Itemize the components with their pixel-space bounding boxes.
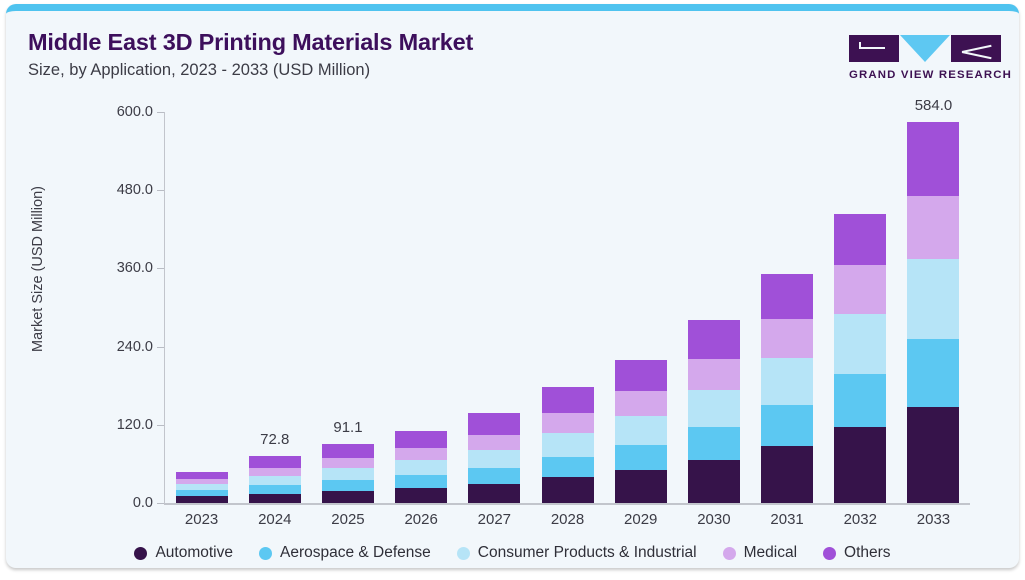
bar-segment[interactable] bbox=[249, 476, 301, 485]
bar-segment[interactable] bbox=[176, 496, 228, 503]
legend-label: Consumer Products & Industrial bbox=[478, 544, 697, 562]
legend-item-consumer-products-industrial[interactable]: Consumer Products & Industrial bbox=[457, 544, 697, 562]
y-axis-tick-mark bbox=[157, 112, 164, 113]
bar-segment[interactable] bbox=[468, 484, 520, 503]
bar-column[interactable] bbox=[531, 112, 604, 503]
legend-label: Others bbox=[844, 544, 891, 562]
bar-value-label: 72.8 bbox=[260, 431, 289, 448]
x-axis-tick-label: 2025 bbox=[311, 511, 384, 528]
bar-segment[interactable] bbox=[615, 416, 667, 445]
x-axis-tick-label: 2024 bbox=[238, 511, 311, 528]
legend-item-aerospace-defense[interactable]: Aerospace & Defense bbox=[259, 544, 431, 562]
bar-segment[interactable] bbox=[542, 413, 594, 433]
bar-segment[interactable] bbox=[176, 472, 228, 479]
bar-segment[interactable] bbox=[395, 448, 447, 460]
y-axis-tick-mark bbox=[157, 190, 164, 191]
bar-segment[interactable] bbox=[468, 468, 520, 484]
bar-column[interactable]: 72.8 bbox=[238, 112, 311, 503]
bar-column[interactable] bbox=[604, 112, 677, 503]
bar-value-label: 91.1 bbox=[333, 419, 362, 436]
legend-swatch-icon bbox=[259, 547, 272, 560]
stacked-bar[interactable] bbox=[395, 431, 447, 503]
bar-segment[interactable] bbox=[761, 358, 813, 405]
bar-segment[interactable] bbox=[322, 468, 374, 480]
legend-label: Automotive bbox=[155, 544, 233, 562]
bar-value-label: 584.0 bbox=[915, 97, 953, 114]
x-axis-tick-label: 2026 bbox=[385, 511, 458, 528]
bar-segment[interactable] bbox=[249, 485, 301, 493]
bar-segment[interactable] bbox=[761, 405, 813, 447]
bar-column[interactable] bbox=[385, 112, 458, 503]
y-axis-tick-label: 120.0 bbox=[83, 417, 153, 433]
bar-segment[interactable] bbox=[688, 460, 740, 503]
legend-swatch-icon bbox=[134, 547, 147, 560]
bar-segment[interactable] bbox=[761, 446, 813, 503]
x-axis-tick-label: 2033 bbox=[897, 511, 970, 528]
x-axis-tick-label: 2027 bbox=[458, 511, 531, 528]
bar-segment[interactable] bbox=[688, 359, 740, 390]
y-axis-tick-label: 0.0 bbox=[83, 495, 153, 511]
bar-column[interactable] bbox=[165, 112, 238, 503]
bar-segment[interactable] bbox=[322, 458, 374, 468]
stacked-bar[interactable] bbox=[834, 214, 886, 503]
legend-swatch-icon bbox=[723, 547, 736, 560]
y-axis-tick-label: 360.0 bbox=[83, 260, 153, 276]
bar-segment[interactable] bbox=[322, 491, 374, 503]
bar-segment[interactable] bbox=[907, 407, 959, 503]
bar-segment[interactable] bbox=[907, 259, 959, 339]
bar-segment[interactable] bbox=[249, 494, 301, 504]
bar-segment[interactable] bbox=[834, 374, 886, 427]
bar-segment[interactable] bbox=[249, 456, 301, 468]
bar-segment[interactable] bbox=[468, 413, 520, 435]
bar-segment[interactable] bbox=[688, 320, 740, 359]
legend-swatch-icon bbox=[457, 547, 470, 560]
bar-series-group: 72.891.1584.0 bbox=[165, 112, 970, 503]
x-axis-tick-label: 2028 bbox=[531, 511, 604, 528]
legend-swatch-icon bbox=[823, 547, 836, 560]
y-axis-tick-mark bbox=[157, 425, 164, 426]
bar-column[interactable]: 584.0 bbox=[897, 112, 970, 503]
y-axis-tick-mark bbox=[157, 347, 164, 348]
bar-segment[interactable] bbox=[395, 460, 447, 475]
legend-label: Medical bbox=[744, 544, 797, 562]
bar-segment[interactable] bbox=[907, 122, 959, 196]
bar-segment[interactable] bbox=[907, 196, 959, 259]
bar-segment[interactable] bbox=[761, 319, 813, 358]
bar-segment[interactable] bbox=[468, 435, 520, 450]
bar-segment[interactable] bbox=[395, 488, 447, 503]
y-axis-label: Market Size (USD Million) bbox=[30, 119, 46, 419]
bar-segment[interactable] bbox=[395, 431, 447, 448]
bar-segment[interactable] bbox=[395, 475, 447, 488]
stacked-bar[interactable] bbox=[176, 472, 228, 503]
chart-plot-area: Market Size (USD Million) 0.0120.0240.03… bbox=[6, 11, 1019, 568]
chart-legend: AutomotiveAerospace & DefenseConsumer Pr… bbox=[6, 544, 1019, 562]
x-axis-tick-label: 2031 bbox=[751, 511, 824, 528]
bar-segment[interactable] bbox=[834, 265, 886, 315]
stacked-bar[interactable] bbox=[688, 320, 740, 503]
legend-item-automotive[interactable]: Automotive bbox=[134, 544, 233, 562]
bar-segment[interactable] bbox=[615, 470, 667, 503]
bar-segment[interactable] bbox=[542, 387, 594, 413]
stacked-bar[interactable] bbox=[907, 122, 959, 503]
bar-segment[interactable] bbox=[615, 360, 667, 391]
bar-column[interactable]: 91.1 bbox=[311, 112, 384, 503]
x-axis-tick-label: 2029 bbox=[604, 511, 677, 528]
bar-column[interactable] bbox=[458, 112, 531, 503]
bar-column[interactable] bbox=[751, 112, 824, 503]
bar-segment[interactable] bbox=[542, 477, 594, 503]
bar-segment[interactable] bbox=[542, 457, 594, 478]
bar-segment[interactable] bbox=[834, 314, 886, 374]
y-axis-tick-mark bbox=[157, 503, 164, 504]
legend-label: Aerospace & Defense bbox=[280, 544, 431, 562]
x-axis-ticks: 2023202420252026202720282029203020312032… bbox=[165, 511, 970, 528]
bar-column[interactable] bbox=[824, 112, 897, 503]
bar-segment[interactable] bbox=[615, 391, 667, 416]
y-axis-tick-label: 480.0 bbox=[83, 182, 153, 198]
bar-segment[interactable] bbox=[688, 427, 740, 460]
bar-segment[interactable] bbox=[249, 468, 301, 476]
bar-segment[interactable] bbox=[761, 274, 813, 319]
stacked-bar[interactable] bbox=[249, 456, 301, 503]
bar-segment[interactable] bbox=[322, 480, 374, 491]
bar-segment[interactable] bbox=[688, 390, 740, 427]
bar-segment[interactable] bbox=[907, 339, 959, 407]
stacked-bar[interactable] bbox=[468, 413, 520, 503]
legend-item-medical[interactable]: Medical bbox=[723, 544, 797, 562]
y-axis-tick-label: 240.0 bbox=[83, 339, 153, 355]
x-axis-tick-label: 2030 bbox=[677, 511, 750, 528]
x-axis-tick-label: 2023 bbox=[165, 511, 238, 528]
stacked-bar[interactable] bbox=[761, 274, 813, 503]
x-axis-line bbox=[164, 503, 970, 505]
y-axis-tick-mark bbox=[157, 268, 164, 269]
stacked-bar[interactable] bbox=[542, 387, 594, 503]
chart-card: Middle East 3D Printing Materials Market… bbox=[6, 4, 1019, 568]
bar-segment[interactable] bbox=[834, 427, 886, 503]
stacked-bar[interactable] bbox=[615, 360, 667, 503]
y-axis-tick-label: 600.0 bbox=[83, 104, 153, 120]
legend-item-others[interactable]: Others bbox=[823, 544, 891, 562]
stacked-bar[interactable] bbox=[322, 444, 374, 503]
bar-segment[interactable] bbox=[542, 433, 594, 456]
bar-segment[interactable] bbox=[615, 445, 667, 470]
bar-segment[interactable] bbox=[322, 444, 374, 459]
bar-column[interactable] bbox=[677, 112, 750, 503]
x-axis-tick-label: 2032 bbox=[824, 511, 897, 528]
bar-segment[interactable] bbox=[834, 214, 886, 265]
bar-segment[interactable] bbox=[468, 450, 520, 468]
